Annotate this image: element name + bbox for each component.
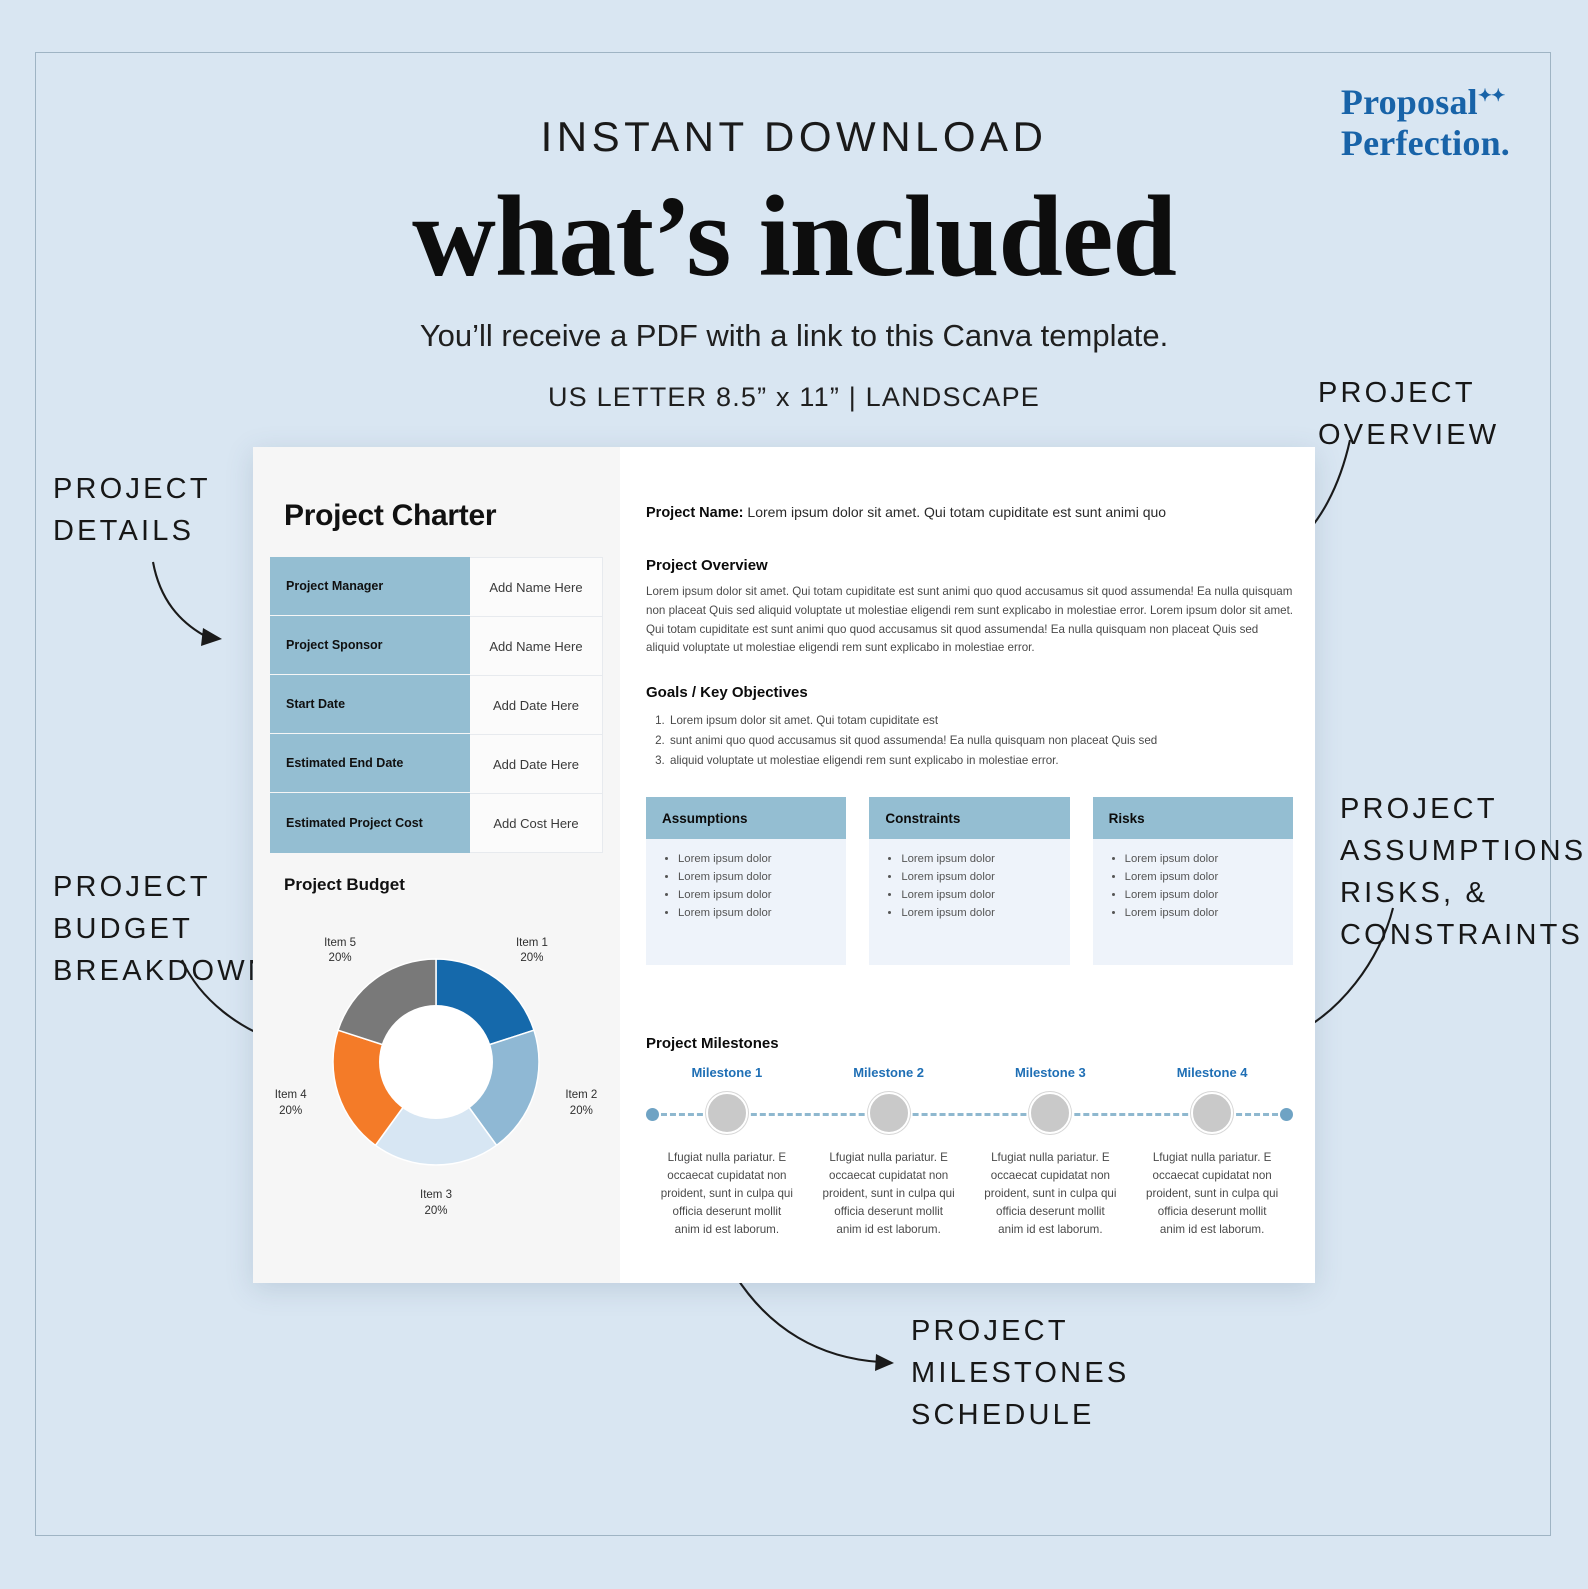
card-title: Constraints — [869, 797, 1069, 839]
table-row[interactable]: Project Sponsor Add Name Here — [270, 616, 603, 675]
brand-logo-line2: Perfection. — [1341, 123, 1510, 164]
list-item: Lorem ipsum dolor — [1125, 869, 1293, 887]
list-item: Lorem ipsum dolor — [678, 869, 846, 887]
milestone-dot-icon — [706, 1092, 748, 1134]
slice-label-item-5: Item 520% — [324, 936, 356, 967]
annotation-project-overview: PROJECT OVERVIEW — [1318, 372, 1499, 456]
slice-label-item-3: Item 320% — [420, 1188, 452, 1219]
charter-right-panel: Project Name: Lorem ipsum dolor sit amet… — [620, 447, 1315, 1283]
milestone-4[interactable]: Milestone 4 Lfugiat nulla pariatur. E oc… — [1131, 1065, 1293, 1239]
table-cell-key: Estimated Project Cost — [270, 793, 470, 853]
card-body: Lorem ipsum dolor Lorem ipsum dolor Lore… — [869, 839, 1069, 965]
list-item: Lorem ipsum dolor — [1125, 887, 1293, 905]
charter-title: Project Charter — [284, 499, 496, 533]
milestone-name: Milestone 1 — [646, 1065, 808, 1080]
card-list: Lorem ipsum dolor Lorem ipsum dolor Lore… — [869, 851, 1069, 922]
table-row[interactable]: Estimated Project Cost Add Cost Here — [270, 793, 603, 853]
table-row[interactable]: Start Date Add Date Here — [270, 675, 603, 734]
list-item: Lorem ipsum dolor — [1125, 851, 1293, 869]
goals-list: Lorem ipsum dolor sit amet. Qui totam cu… — [646, 711, 1293, 771]
table-cell-key: Estimated End Date — [270, 734, 470, 793]
table-cell-value[interactable]: Add Cost Here — [470, 793, 603, 853]
document-preview[interactable]: Project Charter Project Manager Add Name… — [253, 447, 1315, 1283]
page-title: what’s included — [0, 175, 1588, 300]
card-constraints: Constraints Lorem ipsum dolor Lorem ipsu… — [869, 797, 1069, 965]
annotation-project-budget: PROJECT BUDGET BREAKDOWN — [53, 866, 272, 992]
goals-heading: Goals / Key Objectives — [646, 684, 1293, 701]
table-cell-value[interactable]: Add Name Here — [470, 616, 603, 675]
milestone-text: Lfugiat nulla pariatur. E occaecat cupid… — [808, 1149, 970, 1239]
milestone-name: Milestone 2 — [808, 1065, 970, 1080]
card-title: Assumptions — [646, 797, 846, 839]
sparkle-icon: ✦✦ — [1478, 86, 1505, 105]
card-body: Lorem ipsum dolor Lorem ipsum dolor Lore… — [1093, 839, 1293, 965]
budget-donut-chart: Item 120% Item 220% Item 320% Item 420% … — [253, 902, 620, 1252]
assumptions-constraints-risks: Assumptions Lorem ipsum dolor Lorem ipsu… — [646, 797, 1293, 965]
table-cell-value[interactable]: Add Date Here — [470, 734, 603, 793]
list-item: Lorem ipsum dolor — [901, 851, 1069, 869]
milestone-1[interactable]: Milestone 1 Lfugiat nulla pariatur. E oc… — [646, 1065, 808, 1239]
list-item: Lorem ipsum dolor — [901, 887, 1069, 905]
project-name-label: Project Name: — [646, 505, 744, 521]
project-overview-heading: Project Overview — [646, 557, 1293, 574]
table-cell-key: Start Date — [270, 675, 470, 734]
milestone-dot-icon — [868, 1092, 910, 1134]
card-title: Risks — [1093, 797, 1293, 839]
slice-label-item-1: Item 120% — [516, 936, 548, 967]
list-item: Lorem ipsum dolor — [901, 905, 1069, 923]
milestone-dot-icon — [1029, 1092, 1071, 1134]
budget-chart-title: Project Budget — [284, 875, 405, 895]
table-cell-key: Project Manager — [270, 557, 470, 616]
annotation-project-milestones: PROJECT MILESTONES SCHEDULE — [911, 1310, 1129, 1436]
list-item: Lorem ipsum dolor — [678, 887, 846, 905]
brand-logo-line1: Proposal✦✦ — [1341, 82, 1510, 123]
table-cell-value[interactable]: Add Date Here — [470, 675, 603, 734]
project-overview-body: Lorem ipsum dolor sit amet. Qui totam cu… — [646, 583, 1293, 658]
annotation-project-details: PROJECT DETAILS — [53, 468, 211, 552]
list-item: Lorem ipsum dolor sit amet. Qui totam cu… — [668, 711, 1293, 731]
table-row[interactable]: Estimated End Date Add Date Here — [270, 734, 603, 793]
milestone-name: Milestone 4 — [1131, 1065, 1293, 1080]
card-list: Lorem ipsum dolor Lorem ipsum dolor Lore… — [646, 851, 846, 922]
milestones-heading: Project Milestones — [646, 1035, 1293, 1052]
list-item: aliquid voluptate ut molestiae eligendi … — [668, 751, 1293, 771]
list-item: Lorem ipsum dolor — [1125, 905, 1293, 923]
list-item: Lorem ipsum dolor — [678, 851, 846, 869]
milestone-3[interactable]: Milestone 3 Lfugiat nulla pariatur. E oc… — [970, 1065, 1132, 1239]
project-details-table: Project Manager Add Name Here Project Sp… — [270, 557, 603, 853]
list-item: Lorem ipsum dolor — [678, 905, 846, 923]
slice-label-item-2: Item 220% — [565, 1088, 597, 1119]
milestone-text: Lfugiat nulla pariatur. E occaecat cupid… — [646, 1149, 808, 1239]
milestone-text: Lfugiat nulla pariatur. E occaecat cupid… — [970, 1149, 1132, 1239]
card-list: Lorem ipsum dolor Lorem ipsum dolor Lore… — [1093, 851, 1293, 922]
card-assumptions: Assumptions Lorem ipsum dolor Lorem ipsu… — [646, 797, 846, 965]
card-risks: Risks Lorem ipsum dolor Lorem ipsum dolo… — [1093, 797, 1293, 965]
milestone-name: Milestone 3 — [970, 1065, 1132, 1080]
milestones-timeline: Milestone 1 Lfugiat nulla pariatur. E oc… — [646, 1065, 1293, 1255]
slice-label-item-4: Item 420% — [275, 1088, 307, 1119]
hero-subtitle: You’ll receive a PDF with a link to this… — [0, 318, 1588, 354]
brand-logo: Proposal✦✦ Perfection. — [1341, 82, 1510, 164]
project-name-row: Project Name: Lorem ipsum dolor sit amet… — [646, 504, 1293, 521]
charter-left-panel: Project Charter Project Manager Add Name… — [253, 447, 620, 1283]
milestone-2[interactable]: Milestone 2 Lfugiat nulla pariatur. E oc… — [808, 1065, 970, 1239]
milestone-dot-icon — [1191, 1092, 1233, 1134]
table-cell-key: Project Sponsor — [270, 616, 470, 675]
table-row[interactable]: Project Manager Add Name Here — [270, 557, 603, 616]
milestone-text: Lfugiat nulla pariatur. E occaecat cupid… — [1131, 1149, 1293, 1239]
project-name-value[interactable]: Lorem ipsum dolor sit amet. Qui totam cu… — [747, 504, 1166, 520]
card-body: Lorem ipsum dolor Lorem ipsum dolor Lore… — [646, 839, 846, 965]
list-item: Lorem ipsum dolor — [901, 869, 1069, 887]
list-item: sunt animi quo quod accusamus sit quod a… — [668, 731, 1293, 751]
annotation-assumptions-risks-constraints: PROJECT ASSUMPTIONS, RISKS, & CONSTRAINT… — [1340, 788, 1588, 956]
table-cell-value[interactable]: Add Name Here — [470, 557, 603, 616]
